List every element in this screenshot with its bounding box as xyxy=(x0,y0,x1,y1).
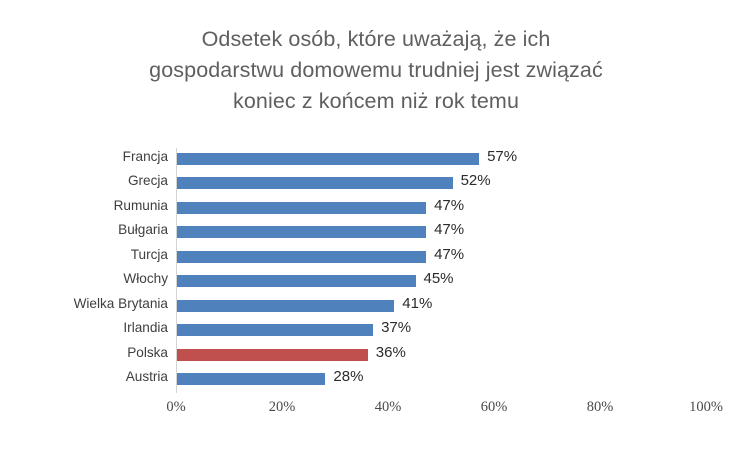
data-label: 47% xyxy=(434,221,464,238)
category-label: Wielka Brytania xyxy=(0,296,168,311)
data-label: 28% xyxy=(333,368,363,385)
plot-area: FrancjaGrecjaRumuniaBułgariaTurcjaWłochy… xyxy=(0,0,752,462)
category-label: Rumunia xyxy=(0,198,168,213)
x-tick-label: 40% xyxy=(348,399,428,416)
bar-turcja[interactable] xyxy=(177,251,426,263)
category-label: Bułgaria xyxy=(0,222,168,237)
bar-francja[interactable] xyxy=(177,153,479,165)
category-label: Włochy xyxy=(0,271,168,286)
x-tick-label: 60% xyxy=(454,399,534,416)
x-tick-label: 100% xyxy=(666,399,746,416)
category-label: Grecja xyxy=(0,173,168,188)
category-label: Francja xyxy=(0,149,168,164)
x-tick-label: 20% xyxy=(242,399,322,416)
bar-grecja[interactable] xyxy=(177,177,453,189)
data-label: 36% xyxy=(376,344,406,361)
bar-włochy[interactable] xyxy=(177,275,416,287)
category-label: Irlandia xyxy=(0,320,168,335)
bar-rumunia[interactable] xyxy=(177,202,426,214)
x-tick-label: 0% xyxy=(136,399,216,416)
bar-austria[interactable] xyxy=(177,373,325,385)
bar-bułgaria[interactable] xyxy=(177,226,426,238)
bar-chart: Odsetek osób, które uważają, że ich gosp… xyxy=(0,0,752,462)
data-label: 47% xyxy=(434,246,464,263)
data-label: 57% xyxy=(487,148,517,165)
data-label: 52% xyxy=(461,172,491,189)
category-label: Turcja xyxy=(0,247,168,262)
data-label: 37% xyxy=(381,319,411,336)
x-tick-label: 80% xyxy=(560,399,640,416)
category-label: Austria xyxy=(0,369,168,384)
data-label: 45% xyxy=(424,270,454,287)
bar-irlandia[interactable] xyxy=(177,324,373,336)
data-label: 47% xyxy=(434,197,464,214)
category-label: Polska xyxy=(0,345,168,360)
bar-wielka-brytania[interactable] xyxy=(177,300,394,312)
bar-polska[interactable] xyxy=(177,349,368,361)
data-label: 41% xyxy=(402,295,432,312)
